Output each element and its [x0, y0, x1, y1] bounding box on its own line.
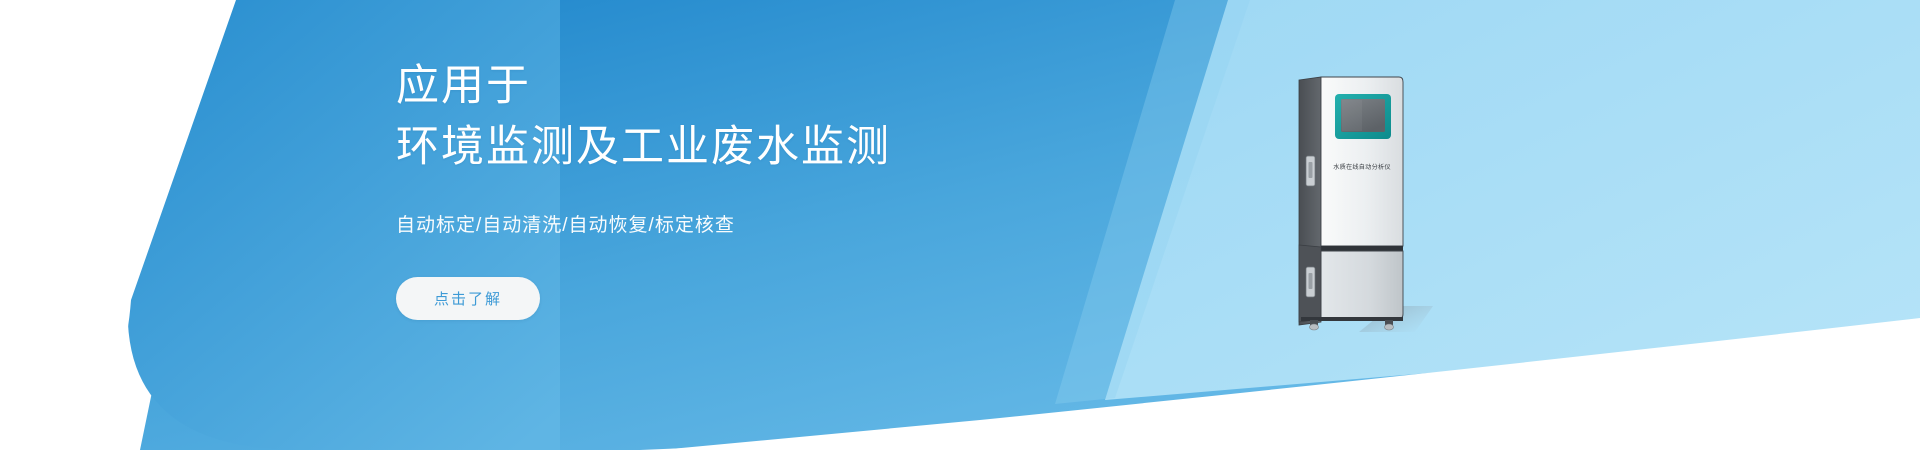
banner-subheadline: 自动标定/自动清洗/自动恢复/标定核查	[396, 210, 1156, 237]
upper-handle-slot	[1309, 162, 1313, 178]
banner-copy: 应用于 环境监测及工业废水监测 自动标定/自动清洗/自动恢复/标定核查 点击了解	[396, 56, 1156, 320]
cabinet-lower-door	[1321, 251, 1403, 319]
lower-handle-slot	[1309, 273, 1313, 289]
cabinet-seam	[1321, 246, 1403, 251]
learn-more-button[interactable]: 点击了解	[396, 277, 540, 320]
headline-line-2: 环境监测及工业废水监测	[396, 117, 1156, 178]
promo-banner: 应用于 环境监测及工业废水监测 自动标定/自动清洗/自动恢复/标定核查 点击了解	[0, 0, 1920, 450]
caster-right	[1385, 320, 1394, 330]
screen-glare	[1342, 100, 1362, 131]
product-label: 水质在线自动分析仪	[1333, 163, 1391, 171]
headline-line-1: 应用于	[396, 56, 1156, 117]
product-image: 水质在线自动分析仪	[1295, 74, 1430, 332]
caster-left	[1310, 320, 1319, 330]
banner-headline: 应用于 环境监测及工业废水监测	[396, 56, 1156, 178]
